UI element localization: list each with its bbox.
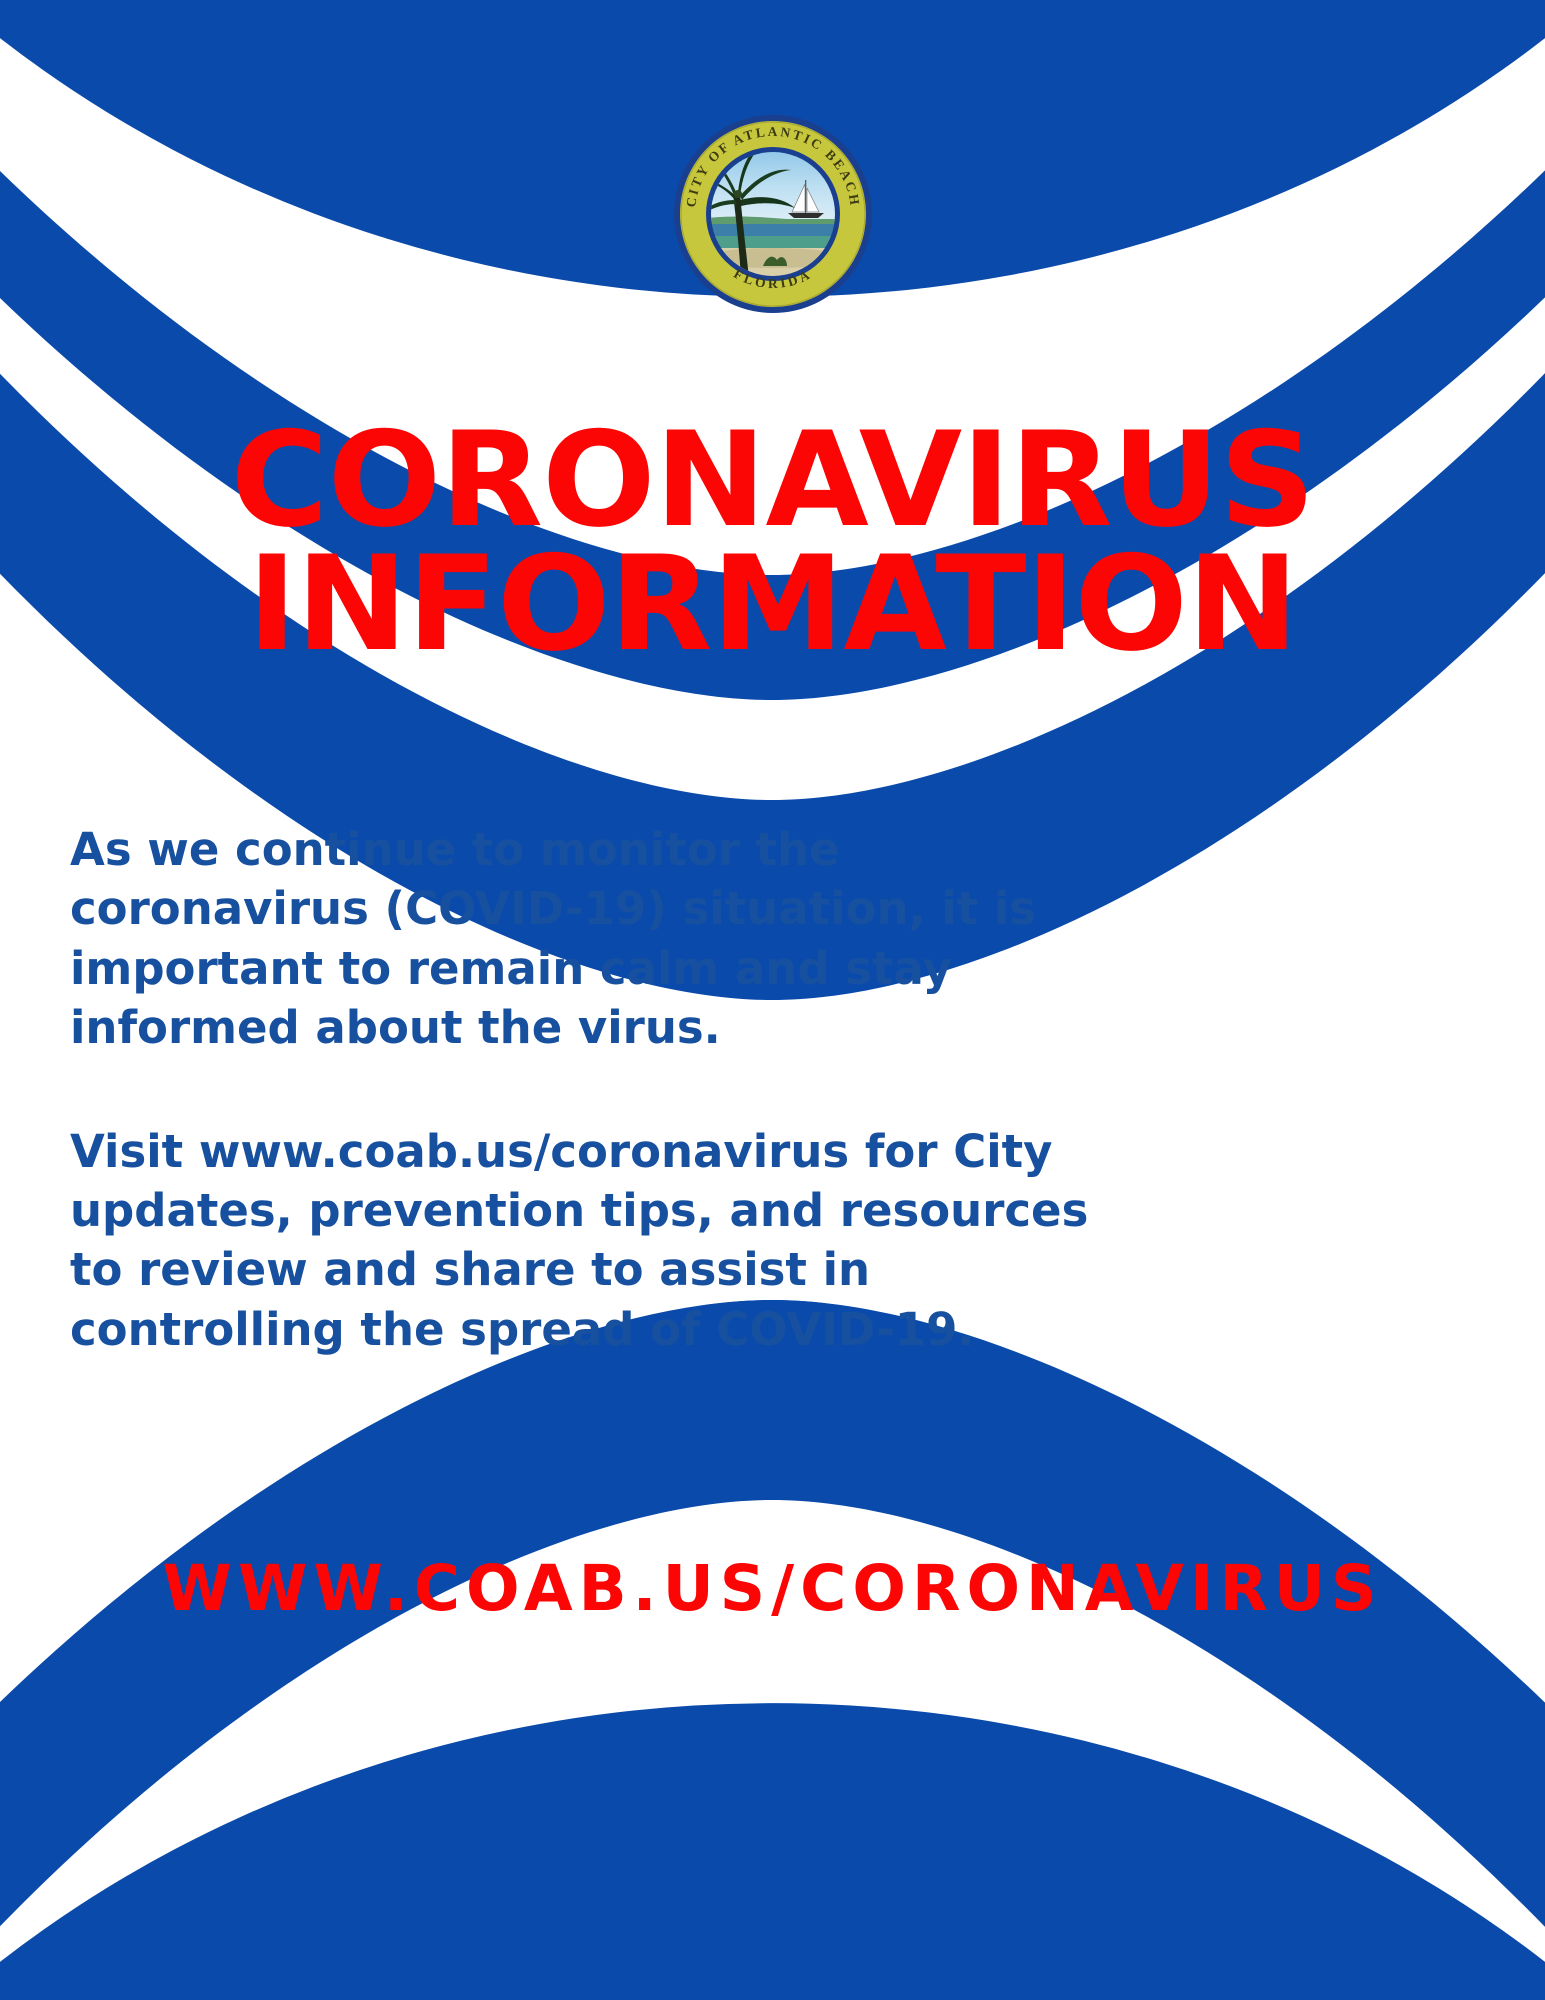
- page-title: CORONAVIRUS INFORMATION: [0, 418, 1545, 667]
- poster: CITY OF ATLANTIC BEACH FLORIDA CORONAVIR…: [0, 0, 1545, 2000]
- paragraph-spacer: [70, 1058, 1150, 1122]
- page-title-line-1: CORONAVIRUS: [0, 418, 1545, 542]
- footer-url[interactable]: WWW.COAB.US/CORONAVIRUS: [0, 1552, 1545, 1625]
- city-seal: CITY OF ATLANTIC BEACH FLORIDA: [667, 108, 879, 320]
- body-copy: As we continue to monitor the coronaviru…: [70, 820, 1150, 1359]
- page-title-line-2: INFORMATION: [0, 542, 1545, 666]
- body-paragraph-1: As we continue to monitor the coronaviru…: [70, 820, 1150, 1058]
- body-paragraph-2: Visit www.coab.us/coronavirus for City u…: [70, 1122, 1150, 1360]
